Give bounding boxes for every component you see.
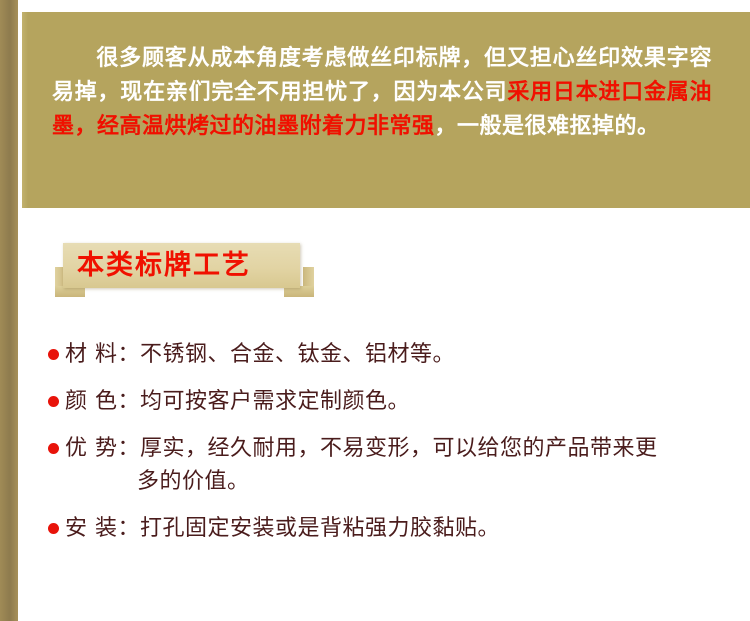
- spec-label: 颜 色：: [65, 389, 140, 414]
- bullet-icon: [48, 396, 59, 407]
- product-detail-page: 很多顾客从成本角度考虑做丝印标牌，但又担心丝印效果字容易掉，现在亲们完全不用担忧…: [0, 0, 750, 621]
- intro-banner: 很多顾客从成本角度考虑做丝印标牌，但又担心丝印效果字容易掉，现在亲们完全不用担忧…: [22, 12, 750, 208]
- spec-list: 材 料：不锈钢、合金、钛金、铝材等。 颜 色：均可按客户需求定制颜色。 优 势：…: [48, 338, 718, 559]
- list-item: 安 装：打孔固定安装或是背粘强力胶黏贴。: [48, 512, 718, 545]
- banner-inner-edge: [22, 12, 28, 208]
- section-title-plate: 本类标牌工艺: [63, 243, 323, 303]
- spec-value: 均可按客户需求定制颜色。: [140, 389, 410, 414]
- spec-body: 安 装：打孔固定安装或是背粘强力胶黏贴。: [65, 512, 718, 545]
- title-plate-background: 本类标牌工艺: [63, 243, 300, 288]
- bullet-icon: [48, 523, 59, 534]
- spec-value-continuation: 多的价值。: [65, 465, 718, 498]
- spec-label: 材 料：: [65, 342, 140, 367]
- spec-value: 厚实，经久耐用，不易变形，可以给您的产品带来更: [140, 436, 658, 461]
- spec-body: 优 势：厚实，经久耐用，不易变形，可以给您的产品带来更 多的价值。: [65, 432, 718, 498]
- spec-body: 材 料：不锈钢、合金、钛金、铝材等。: [65, 338, 718, 371]
- list-item: 颜 色：均可按客户需求定制颜色。: [48, 385, 718, 418]
- section-title-text: 本类标牌工艺: [77, 248, 251, 284]
- spec-value: 打孔固定安装或是背粘强力胶黏贴。: [140, 516, 500, 541]
- spec-label: 安 装：: [65, 516, 140, 541]
- left-decorative-rail: [0, 0, 18, 621]
- list-item: 优 势：厚实，经久耐用，不易变形，可以给您的产品带来更 多的价值。: [48, 432, 718, 498]
- spec-value: 不锈钢、合金、钛金、铝材等。: [140, 342, 455, 367]
- intro-paragraph: 很多顾客从成本角度考虑做丝印标牌，但又担心丝印效果字容易掉，现在亲们完全不用担忧…: [52, 42, 712, 144]
- bullet-icon: [48, 443, 59, 454]
- spec-label: 优 势：: [65, 436, 140, 461]
- list-item: 材 料：不锈钢、合金、钛金、铝材等。: [48, 338, 718, 371]
- spec-body: 颜 色：均可按客户需求定制颜色。: [65, 385, 718, 418]
- intro-paragraph-part2: ，一般是很难抠掉的。: [435, 114, 660, 139]
- bullet-icon: [48, 349, 59, 360]
